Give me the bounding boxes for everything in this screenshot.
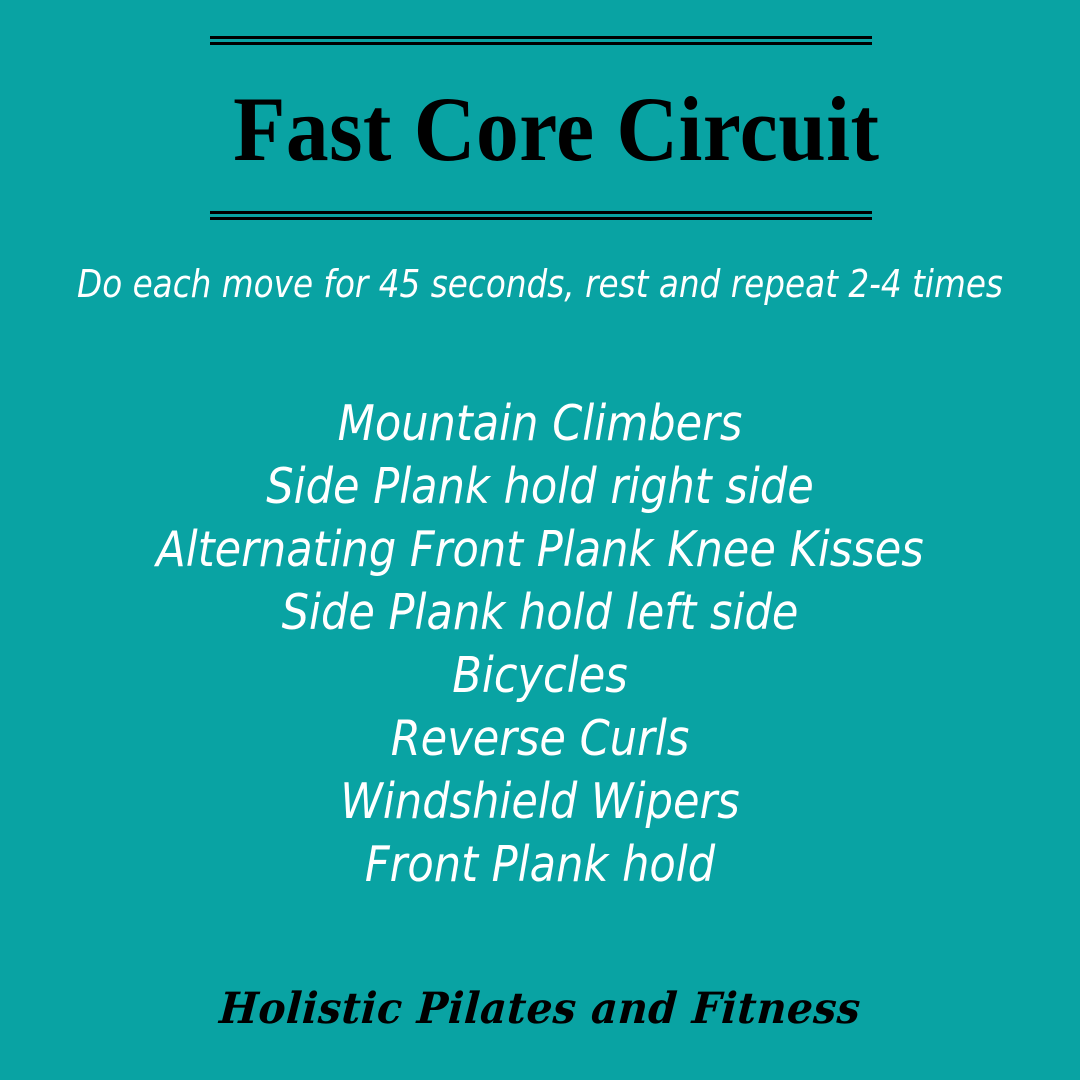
instructions-text: Do each move for 45 seconds, rest and re…	[76, 262, 1005, 308]
page-title: Fast Core Circuit	[233, 45, 849, 211]
header-block: Fast Core Circuit	[210, 36, 872, 220]
list-item: Side Plank hold right side	[65, 455, 1015, 518]
list-item: Front Plank hold	[65, 833, 1015, 896]
exercise-list: Mountain Climbers Side Plank hold right …	[0, 392, 1080, 896]
divider-rule-bottom	[210, 211, 872, 220]
list-item: Alternating Front Plank Knee Kisses	[65, 518, 1015, 581]
workout-poster: Fast Core Circuit Do each move for 45 se…	[0, 0, 1080, 1080]
brand-name: Holistic Pilates and Fitness	[25, 986, 1054, 1033]
list-item: Mountain Climbers	[65, 392, 1015, 455]
list-item: Reverse Curls	[65, 707, 1015, 770]
list-item: Side Plank hold left side	[65, 581, 1015, 644]
divider-rule-top	[210, 36, 872, 45]
list-item: Bicycles	[65, 644, 1015, 707]
list-item: Windshield Wipers	[65, 770, 1015, 833]
